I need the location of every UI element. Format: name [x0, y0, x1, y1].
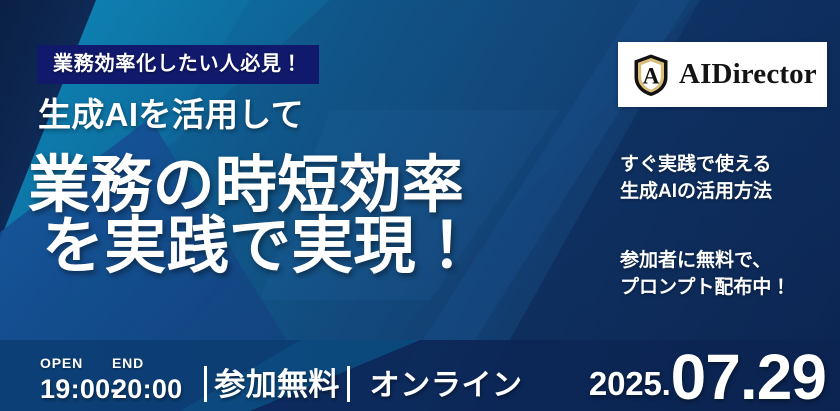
chip-rule-right [347, 366, 350, 402]
chip-rule-left [204, 366, 207, 402]
event-date: 2025. 07.29 [589, 345, 826, 403]
headline-main: 業務の時短効率 を実践で実現！ [28, 156, 478, 278]
free-admission-label: 参加無料 [214, 369, 339, 400]
headline-line-2: を実践で実現！ [28, 217, 478, 278]
event-date-month-day: 07.29 [671, 349, 826, 407]
seminar-banner: 業務効率化したい人必見！ 生成AIを活用して 業務の時短効率 を実践で実現！ A… [0, 0, 840, 411]
logo-card: A AIDirector [618, 42, 827, 107]
bottom-info-bar: OPEN END 19:00- 20:00 参加無料 オンライン 2025. 0… [0, 340, 840, 411]
end-label: END [112, 356, 144, 370]
free-admission-chip: 参加無料 [204, 366, 349, 403]
right-copy-bonus-line-2: プロンプト配布中！ [620, 275, 790, 302]
right-copy-benefits-line-1: すぐ実践で使える [620, 152, 772, 179]
right-copy-benefits: すぐ実践で使える 生成AIの活用方法 [620, 152, 772, 206]
time-values: 19:00- 20:00 [40, 376, 182, 403]
open-time: 19:00- [40, 376, 112, 403]
open-label: OPEN [40, 356, 112, 370]
logo-wordmark: AIDirector [679, 60, 817, 89]
time-block: OPEN END 19:00- 20:00 [40, 356, 182, 403]
shield-letter: A [643, 63, 660, 88]
right-copy-bonus: 参加者に無料で、 プロンプト配布中！ [620, 248, 790, 302]
time-labels: OPEN END [40, 356, 182, 370]
shield-icon: A [632, 53, 670, 97]
kicker-badge: 業務効率化したい人必見！ [37, 45, 319, 84]
headline-line-1: 業務の時短効率 [28, 156, 478, 217]
venue-label: オンライン [370, 371, 523, 403]
event-date-year: 2025. [589, 367, 671, 400]
end-time: 20:00 [112, 376, 182, 403]
headline-subtitle: 生成AIを活用して [38, 98, 304, 131]
right-copy-benefits-line-2: 生成AIの活用方法 [620, 179, 772, 206]
right-copy-bonus-line-1: 参加者に無料で、 [620, 248, 790, 275]
